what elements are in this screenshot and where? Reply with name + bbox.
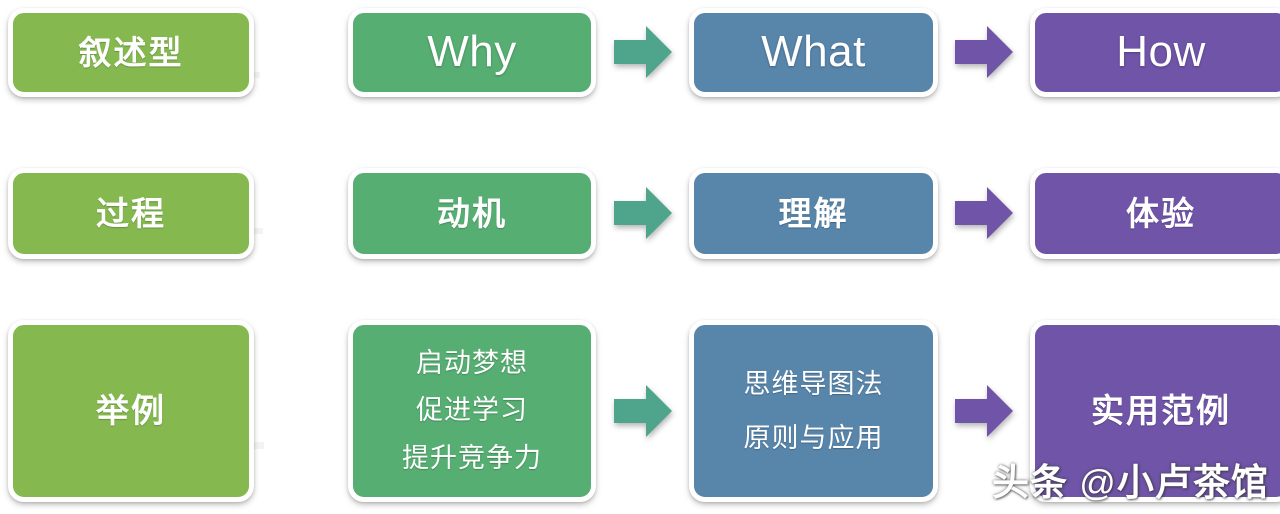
arrow-what-to-how bbox=[955, 24, 1013, 80]
cell-motivation[interactable]: 动机 bbox=[348, 168, 596, 259]
cell-narrative-type[interactable]: 叙述型 bbox=[8, 8, 254, 97]
cell-line: 动机 bbox=[353, 191, 591, 237]
cell-line: 思维导图法 bbox=[694, 357, 933, 411]
cell-text: How bbox=[1035, 22, 1280, 83]
arrow-detail-why-to-what bbox=[614, 383, 672, 439]
arrow-why-to-what bbox=[614, 24, 672, 80]
cell-text: 启动梦想 促进学习 提升竞争力 bbox=[353, 340, 591, 482]
cell-text: 思维导图法 原则与应用 bbox=[694, 357, 933, 465]
cell-line: 原则与应用 bbox=[694, 411, 933, 465]
cell-text: 理解 bbox=[694, 191, 933, 237]
cell-understanding[interactable]: 理解 bbox=[689, 168, 938, 259]
cell-text: 动机 bbox=[353, 191, 591, 237]
cell-line: 体验 bbox=[1035, 191, 1280, 237]
cell-line: 叙述型 bbox=[13, 30, 249, 76]
cell-text: Why bbox=[353, 22, 591, 83]
cell-process[interactable]: 过程 bbox=[8, 168, 254, 259]
cell-text: 实用范例 bbox=[1035, 388, 1280, 434]
cell-motivation-detail[interactable]: 启动梦想 促进学习 提升竞争力 bbox=[348, 320, 596, 502]
cell-line: 理解 bbox=[694, 191, 933, 237]
cell-text: 叙述型 bbox=[13, 30, 249, 76]
arrow-detail-what-to-how bbox=[955, 383, 1013, 439]
diagram-canvas: 叙述型 Why What How 过程 动机 bbox=[0, 0, 1280, 514]
cell-experience[interactable]: 体验 bbox=[1030, 168, 1280, 259]
cell-line: How bbox=[1035, 22, 1280, 83]
cell-how[interactable]: How bbox=[1030, 8, 1280, 97]
cell-text: What bbox=[694, 22, 933, 83]
cell-line: 举例 bbox=[13, 388, 249, 434]
cell-line: What bbox=[694, 22, 933, 83]
cell-text: 举例 bbox=[13, 388, 249, 434]
cell-line: 启动梦想 bbox=[353, 340, 591, 387]
cell-line: 促进学习 bbox=[353, 387, 591, 434]
cell-example[interactable]: 举例 bbox=[8, 320, 254, 502]
cell-why[interactable]: Why bbox=[348, 8, 596, 97]
cell-line: Why bbox=[353, 22, 591, 83]
cell-line: 提升竞争力 bbox=[353, 435, 591, 482]
cell-text: 过程 bbox=[13, 191, 249, 237]
cell-text: 体验 bbox=[1035, 191, 1280, 237]
cell-what[interactable]: What bbox=[689, 8, 938, 97]
cell-line: 过程 bbox=[13, 191, 249, 237]
arrow-motivation-to-understanding bbox=[614, 185, 672, 241]
arrow-understanding-to-experience bbox=[955, 185, 1013, 241]
cell-line: 实用范例 bbox=[1035, 388, 1280, 434]
cell-understanding-detail[interactable]: 思维导图法 原则与应用 bbox=[689, 320, 938, 502]
scan-speck bbox=[253, 228, 263, 234]
cell-practical-example[interactable]: 实用范例 bbox=[1030, 320, 1280, 502]
